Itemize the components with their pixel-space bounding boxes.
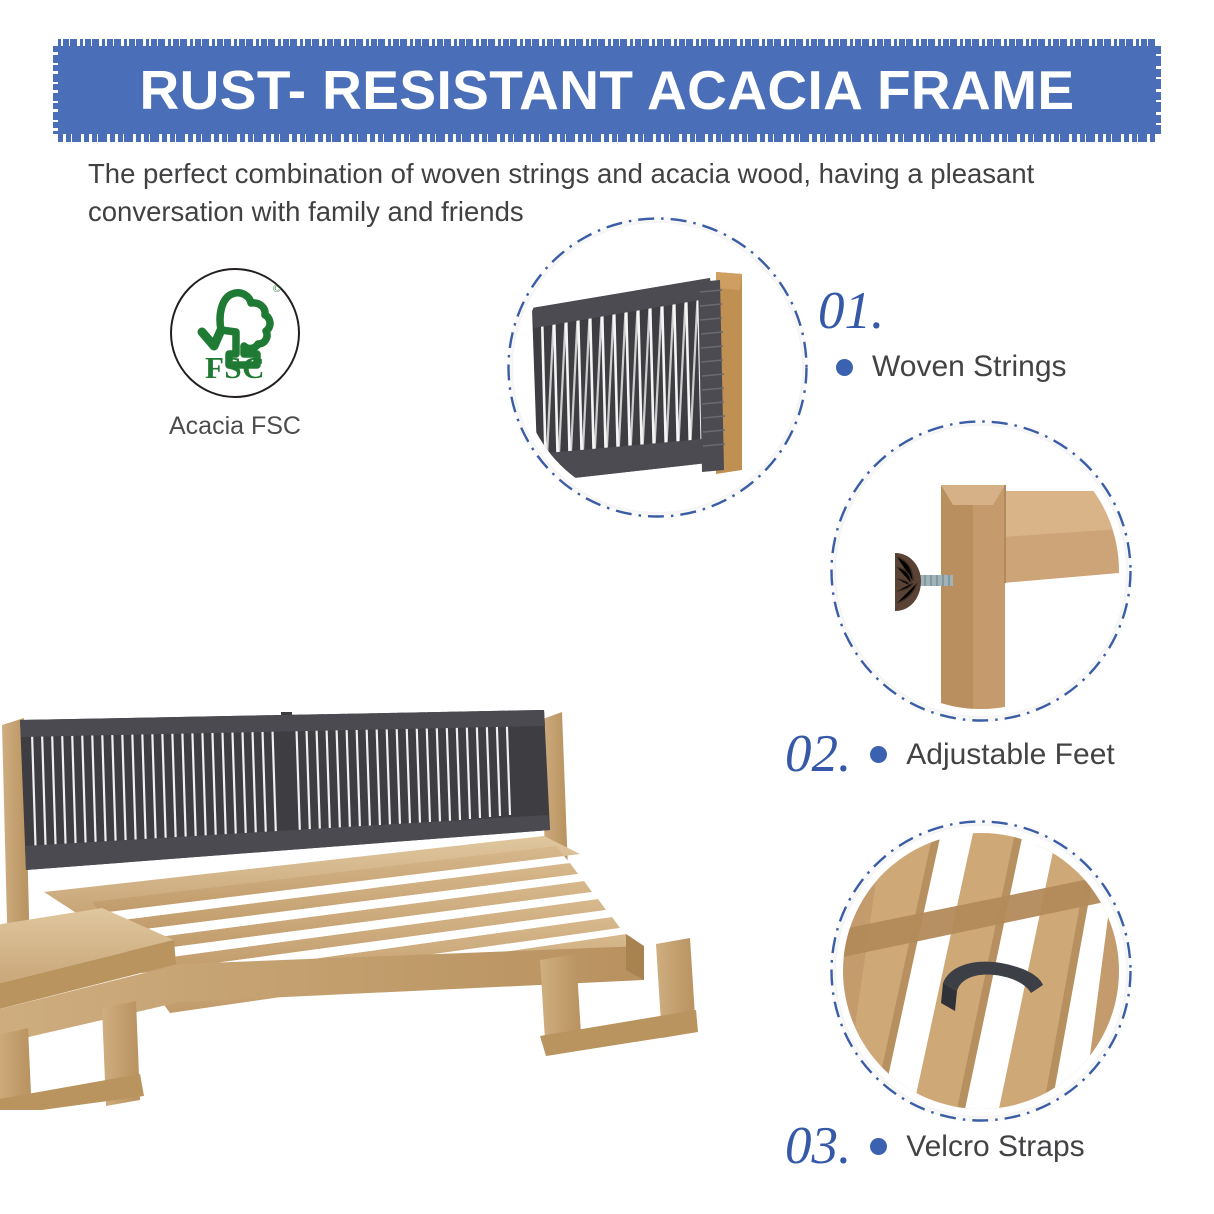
infographic-root: RUST- RESISTANT ACACIA FRAME The perfect…: [0, 0, 1214, 1214]
banner-torn-edge-left: [53, 46, 60, 134]
callout-03-label: Velcro Straps: [906, 1130, 1084, 1164]
callout-02-label: Adjustable Feet: [906, 738, 1114, 772]
detail-circle-velcro-straps: [828, 818, 1134, 1124]
fsc-copyright-symbol: ©: [273, 283, 281, 295]
product-photo-bench: [0, 540, 824, 1110]
banner-torn-edge-right: [1154, 46, 1161, 134]
callout-01-bullet-icon: [836, 359, 853, 376]
woven-backrest-photo: [520, 230, 795, 505]
callout-02: 02. Adjustable Feet: [785, 728, 1115, 781]
adjustable-foot-photo: [843, 433, 1119, 709]
title-banner: RUST- RESISTANT ACACIA FRAME: [58, 46, 1156, 134]
callout-03: 03. Velcro Straps: [785, 1120, 1085, 1173]
fsc-caption: Acacia FSC: [152, 412, 318, 441]
callout-03-bullet-icon: [870, 1138, 887, 1155]
fsc-wordmark: FSC: [172, 352, 298, 383]
callout-02-number: 02.: [785, 728, 851, 781]
callout-01-label: Woven Strings: [872, 350, 1067, 384]
callout-03-number: 03.: [785, 1120, 851, 1173]
velcro-strap-photo: [843, 833, 1119, 1109]
detail-circle-woven-strings: [505, 215, 810, 520]
detail-circle-adjustable-feet: [828, 418, 1134, 724]
fsc-badge: © FSC Acacia FSC: [152, 268, 318, 441]
fsc-logo-circle: © FSC: [170, 268, 300, 398]
page-title: RUST- RESISTANT ACACIA FRAME: [140, 58, 1075, 122]
subtitle-text: The perfect combination of woven strings…: [88, 155, 1118, 231]
callout-01: 01. Woven Strings: [818, 285, 1067, 384]
callout-01-number: 01.: [818, 285, 1067, 338]
callout-02-bullet-icon: [870, 746, 887, 763]
